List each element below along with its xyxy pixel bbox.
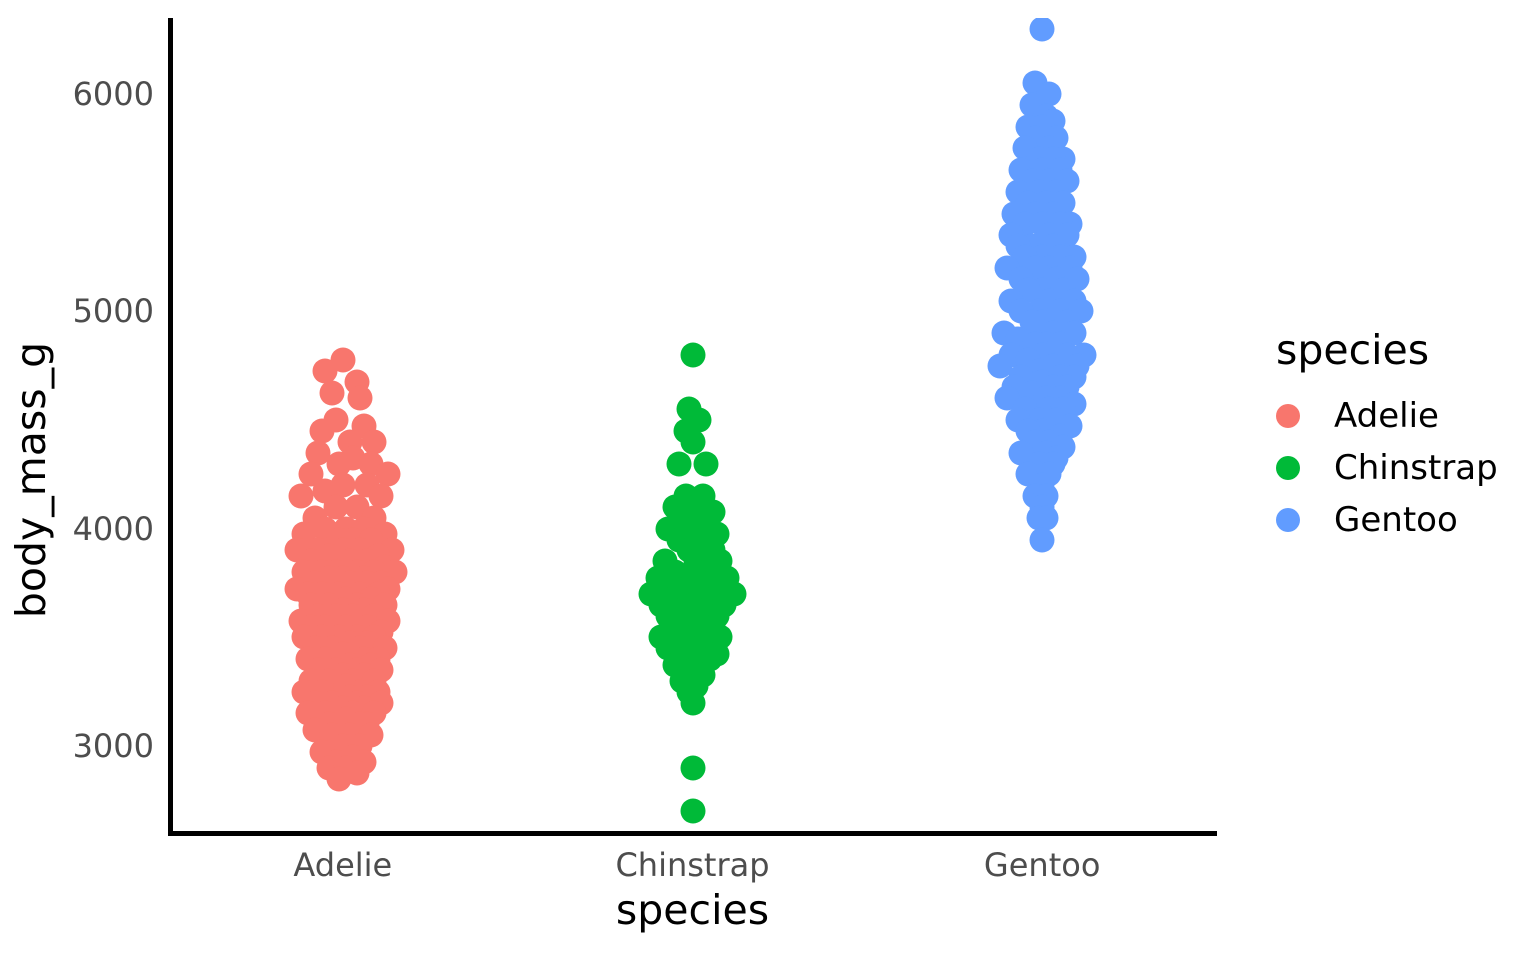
data-point bbox=[1030, 527, 1055, 552]
chart-figure: body_mass_g 3000400050006000 AdelieChins… bbox=[0, 0, 1536, 960]
x-axis-title: species bbox=[168, 886, 1217, 934]
y-tick-label: 6000 bbox=[0, 75, 168, 113]
y-tick-label: 3000 bbox=[0, 727, 168, 765]
y-tick-label: 5000 bbox=[0, 292, 168, 330]
legend-title: species bbox=[1276, 326, 1536, 374]
legend-key-icon bbox=[1262, 494, 1314, 546]
legend-item-adelie[interactable]: Adelie bbox=[1262, 390, 1536, 442]
legend-key-icon bbox=[1262, 442, 1314, 494]
legend-dot-icon bbox=[1276, 404, 1300, 428]
legend: species AdelieChinstrapGentoo bbox=[1262, 326, 1536, 546]
legend-key-icon bbox=[1262, 390, 1314, 442]
x-tick-label-gentoo: Gentoo bbox=[892, 846, 1192, 884]
legend-dot-icon bbox=[1276, 508, 1300, 532]
legend-item-chinstrap[interactable]: Chinstrap bbox=[1262, 442, 1536, 494]
legend-dot-icon bbox=[1276, 456, 1300, 480]
legend-items: AdelieChinstrapGentoo bbox=[1262, 390, 1536, 546]
data-point bbox=[1030, 18, 1055, 41]
x-tick-label-adelie: Adelie bbox=[193, 846, 493, 884]
y-axis-title: body_mass_g bbox=[0, 0, 62, 960]
x-tick-label-chinstrap: Chinstrap bbox=[543, 846, 843, 884]
legend-item-label: Adelie bbox=[1334, 396, 1439, 436]
legend-item-label: Chinstrap bbox=[1334, 448, 1498, 488]
legend-item-label: Gentoo bbox=[1334, 500, 1458, 540]
series-group-gentoo bbox=[168, 18, 1217, 833]
plot-panel bbox=[168, 18, 1217, 833]
y-tick-label: 4000 bbox=[0, 510, 168, 548]
legend-item-gentoo[interactable]: Gentoo bbox=[1262, 494, 1536, 546]
